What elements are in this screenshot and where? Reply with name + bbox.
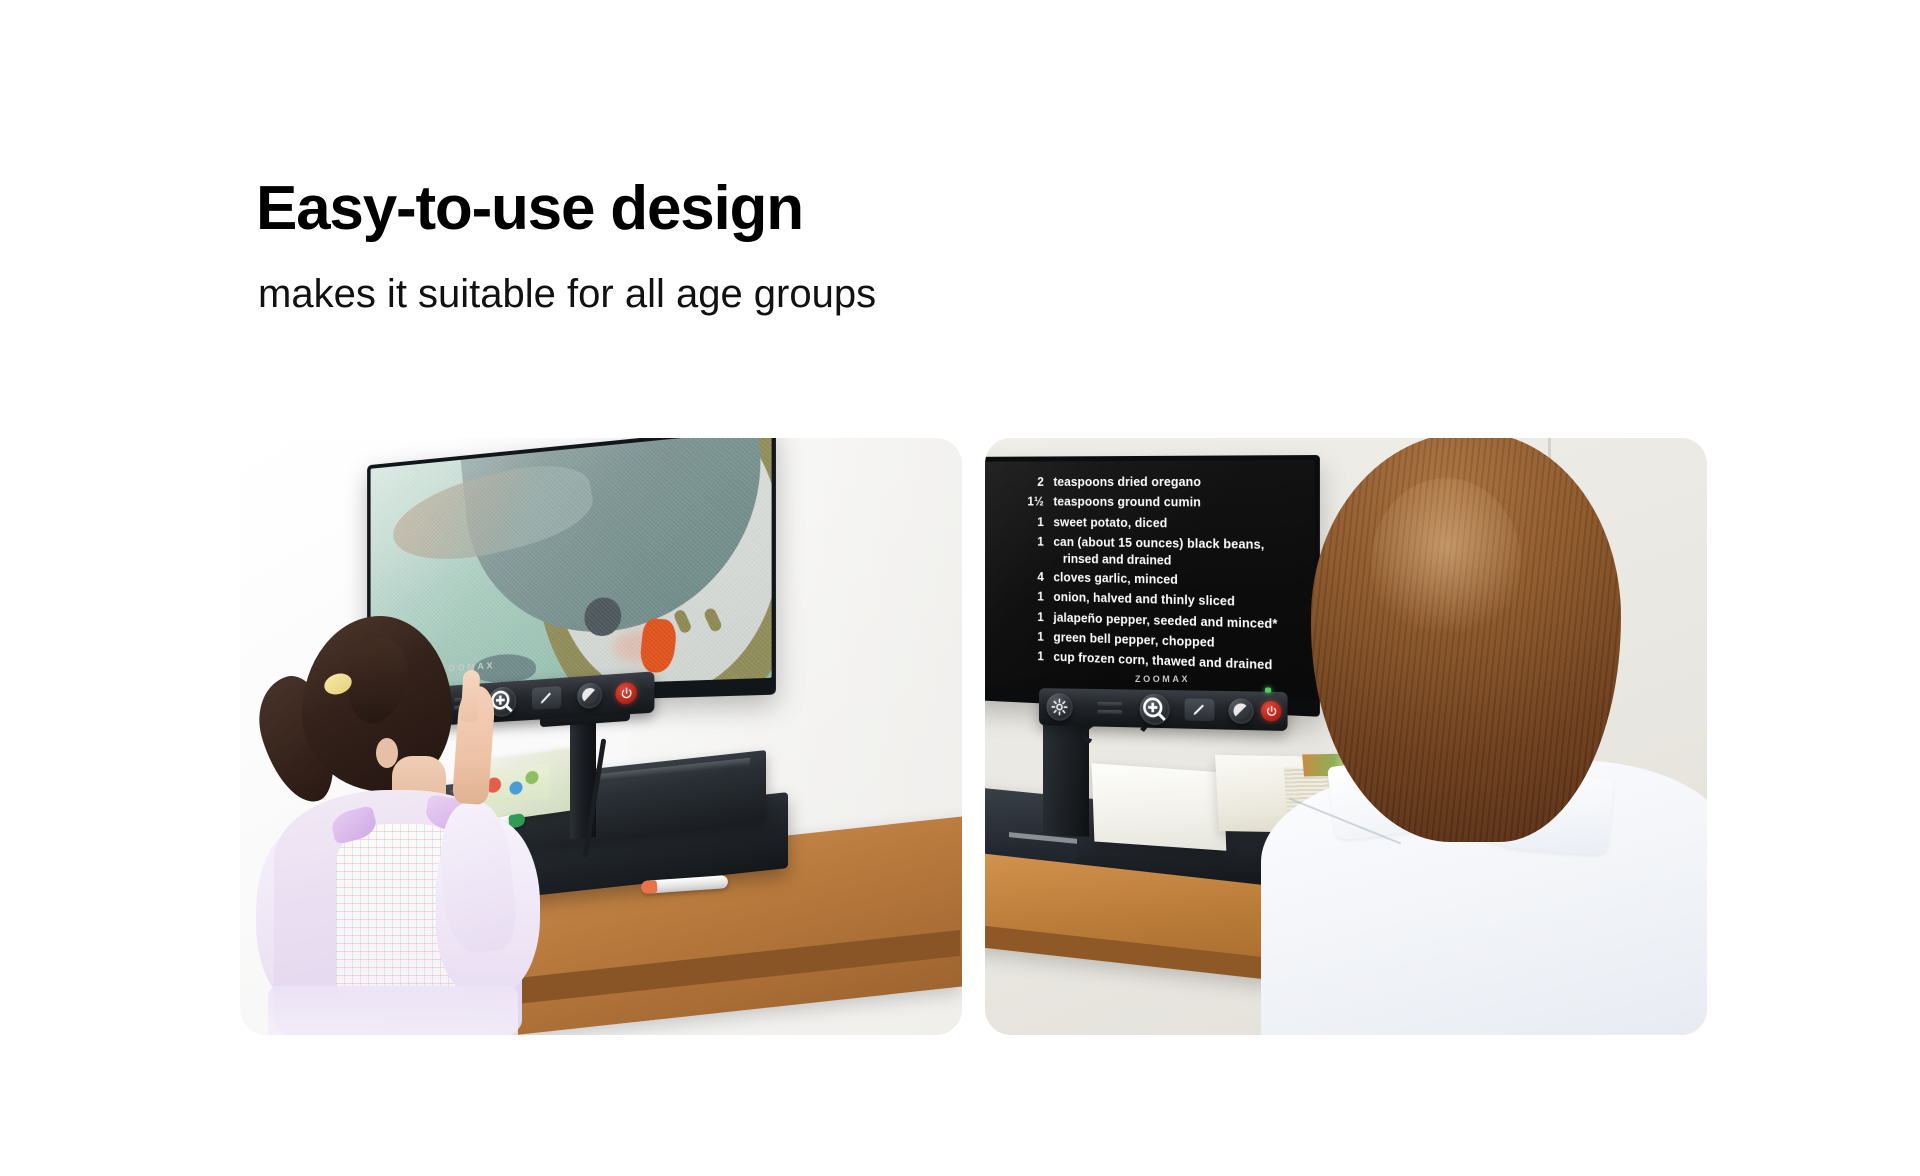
pen-icon	[538, 688, 556, 707]
pen-icon	[1191, 701, 1209, 720]
recipe-list: 2 teaspoons dried oregano 1½ teaspoons g…	[1016, 475, 1306, 680]
focus-dial[interactable]	[1228, 698, 1253, 724]
recipe-row: 1 onion, halved and thinly sliced	[1016, 589, 1306, 612]
woman-hair-highlight	[1371, 478, 1521, 648]
recipe-row: 4 cloves garlic, minced	[1016, 570, 1306, 591]
recipe-qty: 1	[1016, 629, 1053, 644]
brightness-dial[interactable]	[1046, 693, 1072, 721]
power-icon	[1264, 704, 1277, 718]
photo-card-child: ZOOMAX	[240, 438, 962, 1035]
power-button[interactable]	[1261, 701, 1281, 722]
recipe-text: onion, halved and thinly sliced	[1053, 590, 1235, 610]
page-title: Easy-to-use design	[256, 176, 803, 241]
recipe-row: 2 teaspoons dried oregano	[1016, 475, 1306, 491]
brand-logo-right: ZOOMAX	[1135, 674, 1190, 684]
photo-card-woman: 2 teaspoons dried oregano 1½ teaspoons g…	[985, 438, 1707, 1035]
recipe-qty: 4	[1016, 570, 1053, 584]
pen-marker-button[interactable]	[532, 686, 561, 710]
page-root: Easy-to-use design makes it suitable for…	[0, 0, 1920, 1176]
recipe-text: teaspoons ground cumin	[1053, 495, 1201, 511]
zoom-magnify-knob[interactable]	[1140, 694, 1170, 726]
recipe-qty: 1½	[1016, 495, 1053, 509]
recipe-qty: 1	[1016, 515, 1053, 529]
recipe-text: jalapeño pepper, seeded and minced*	[1053, 610, 1277, 632]
recipe-qty: 1	[1016, 589, 1053, 604]
recipe-text: green bell pepper, chopped	[1053, 630, 1214, 651]
control-panel-right[interactable]	[1039, 688, 1288, 731]
gear-icon	[1051, 698, 1068, 716]
recipe-qty: 1	[1016, 649, 1053, 664]
recipe-qty: 1	[1016, 609, 1053, 624]
recipe-text: can (about 15 ounces) black beans,	[1053, 535, 1264, 553]
recipe-qty: 1	[1016, 534, 1053, 548]
recipe-text: cup frozen corn, thawed and drained	[1053, 650, 1272, 674]
recipe-text: teaspoons dried oregano	[1053, 475, 1201, 490]
marker-cap-orange	[641, 880, 658, 894]
recipe-row: 1 can (about 15 ounces) black beans,	[1016, 534, 1306, 553]
child-skirt-tulle	[268, 986, 518, 1035]
power-button[interactable]	[615, 682, 636, 705]
open-book-left-page	[1092, 763, 1227, 850]
monitor-screen-right: 2 teaspoons dried oregano 1½ teaspoons g…	[985, 460, 1315, 700]
page-subtitle: makes it suitable for all age groups	[258, 272, 876, 316]
recipe-qty: 2	[1016, 475, 1053, 489]
child-pointing-finger	[461, 670, 481, 723]
pen-marker-button[interactable]	[1185, 698, 1215, 721]
status-led	[1265, 688, 1271, 693]
recipe-text-continued: rinsed and drained	[1016, 551, 1306, 570]
magnify-plus-icon	[1140, 694, 1170, 726]
focus-dial[interactable]	[577, 682, 602, 709]
contrast-lines-button[interactable]	[1097, 702, 1122, 715]
power-icon	[619, 686, 633, 701]
recipe-text: cloves garlic, minced	[1053, 570, 1178, 588]
recipe-text: sweet potato, diced	[1053, 515, 1167, 531]
recipe-row: 1 sweet potato, diced	[1016, 515, 1306, 533]
recipe-row: 1½ teaspoons ground cumin	[1016, 495, 1306, 512]
